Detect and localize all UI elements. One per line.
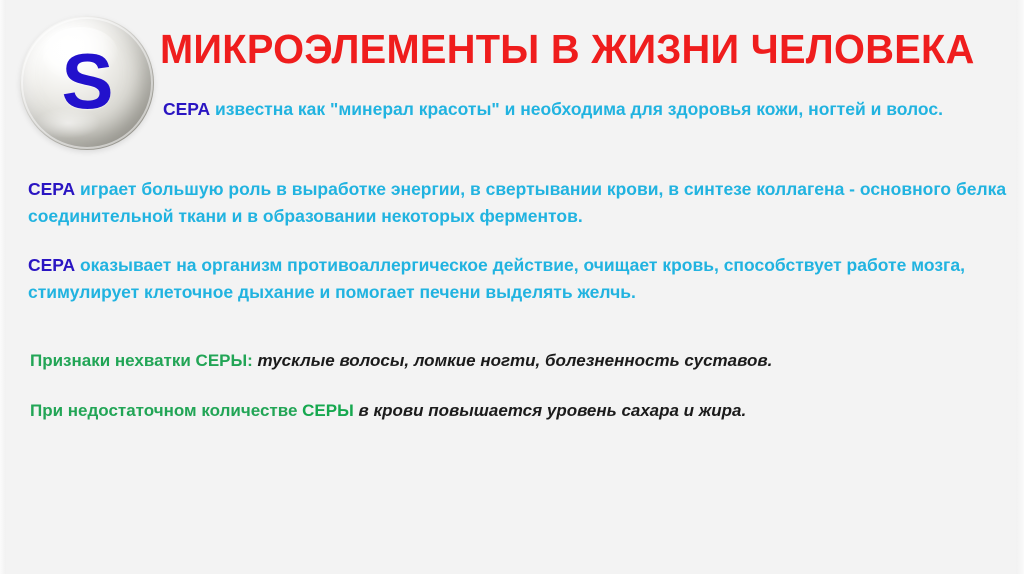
intro-lead-term: СЕРА — [163, 99, 210, 119]
paragraph-energy-role: СЕРА играет большую роль в выработке эне… — [28, 176, 1010, 230]
paragraph-text: играет большую роль в выработке энергии,… — [28, 179, 1006, 226]
page-title: МИКРОЭЛЕМЕНТЫ В ЖИЗНИ ЧЕЛОВЕКА — [160, 28, 994, 71]
consequence-label-prefix: При недостаточном количестве — [30, 401, 302, 420]
right-edge-band — [1016, 0, 1024, 574]
consequence-label-term: СЕРЫ — [302, 401, 354, 420]
sulfur-sphere-badge: S — [20, 16, 154, 150]
paragraph-text: оказывает на организм противоаллергическ… — [28, 255, 965, 302]
deficiency-consequence-line: При недостаточном количестве СЕРЫ в кров… — [30, 399, 1010, 423]
paragraph-lead-term: СЕРА — [28, 255, 75, 275]
paragraph-antiallergic-role: СЕРА оказывает на организм противоаллерг… — [28, 252, 1010, 306]
paragraph-lead-term: СЕРА — [28, 179, 75, 199]
intro-text: известна как "минерал красоты" и необход… — [210, 99, 943, 119]
intro-paragraph: СЕРА известна как "минерал красоты" и не… — [163, 96, 1011, 123]
deficiency-note: тусклые волосы, ломкие ногти, болезненно… — [253, 351, 773, 370]
consequence-note: в крови повышается уровень сахара и жира… — [354, 401, 746, 420]
deficiency-signs-line: Признаки нехватки СЕРЫ: тусклые волосы, … — [30, 349, 1010, 373]
slide-canvas: S МИКРОЭЛЕМЕНТЫ В ЖИЗНИ ЧЕЛОВЕКА СЕРА из… — [0, 0, 1024, 574]
left-edge-band — [0, 0, 6, 574]
element-symbol: S — [20, 16, 154, 150]
deficiency-label: Признаки нехватки СЕРЫ: — [30, 351, 253, 370]
